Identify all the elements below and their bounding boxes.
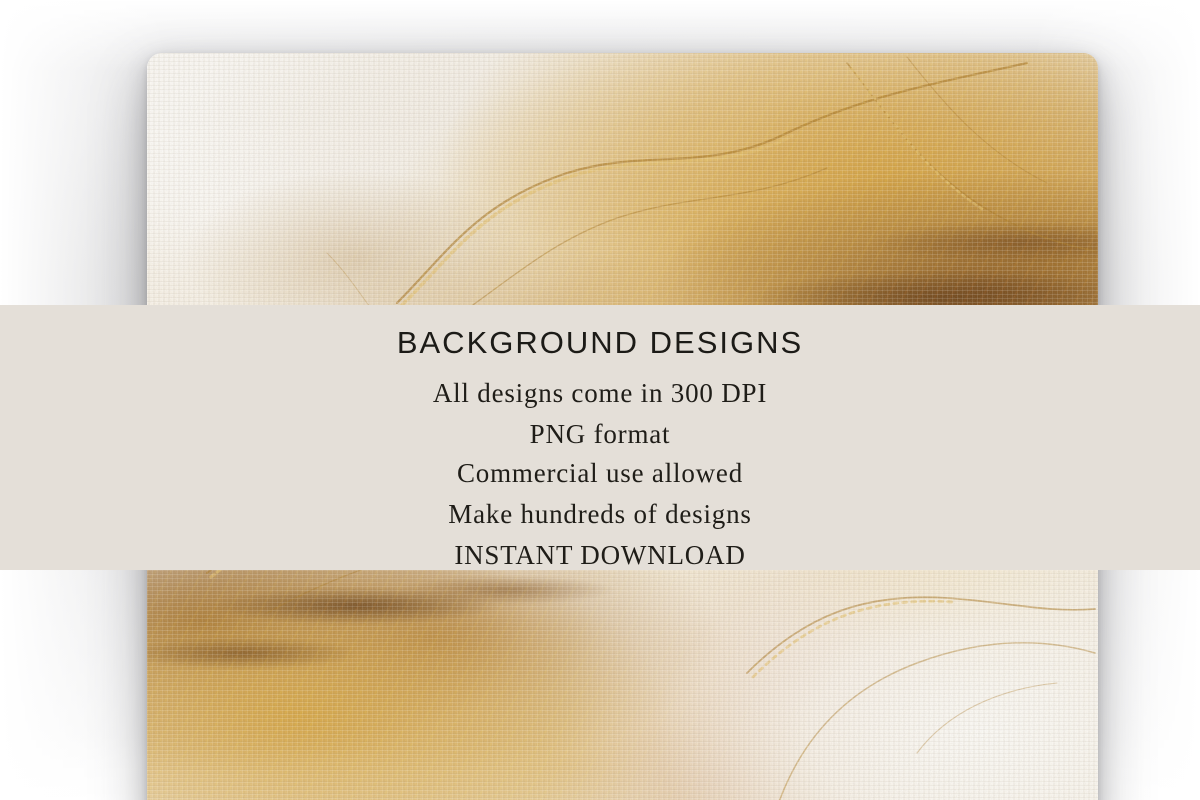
info-line-license: Commercial use allowed xyxy=(457,460,743,487)
mockup-stage: BACKGROUND DESIGNS All designs come in 3… xyxy=(0,0,1200,800)
info-line-delivery: INSTANT DOWNLOAD xyxy=(454,542,745,569)
info-line-format: PNG format xyxy=(530,421,671,448)
info-overlay-band: BACKGROUND DESIGNS All designs come in 3… xyxy=(0,305,1200,570)
info-line-usage: Make hundreds of designs xyxy=(448,501,751,528)
page-title: BACKGROUND DESIGNS xyxy=(397,327,803,358)
info-line-dpi: All designs come in 300 DPI xyxy=(433,380,767,407)
